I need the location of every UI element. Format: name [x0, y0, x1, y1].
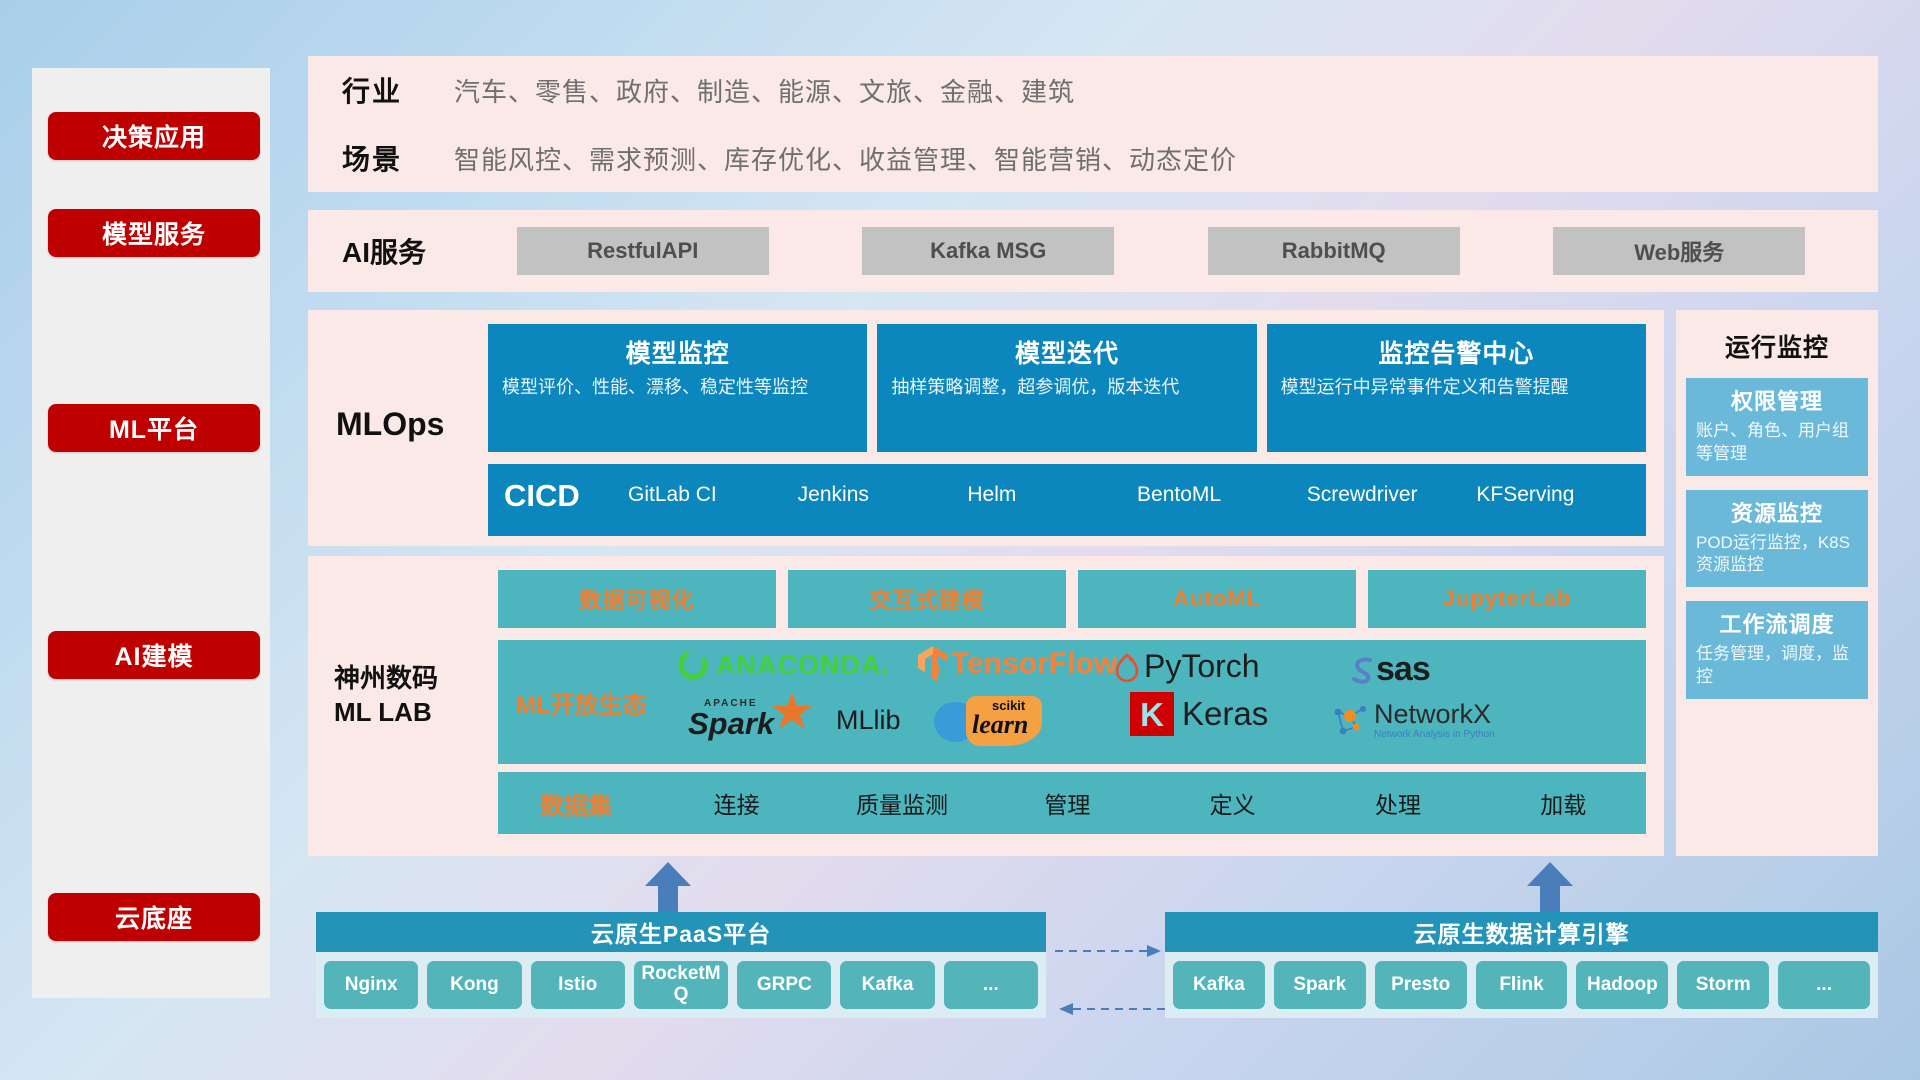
scenario-row: 场景 智能风控、需求预测、库存优化、收益管理、智能营销、动态定价	[308, 124, 1878, 192]
ai-service-chip-restfulapi[interactable]: RestfulAPI	[517, 227, 769, 275]
dataset-bar: 数据集 连接 质量监测 管理 定义 处理 加载	[498, 772, 1646, 834]
cicd-item-bentoml[interactable]: BentoML	[1137, 464, 1307, 508]
mlops-card-title: 模型监控	[502, 334, 853, 370]
industry-row: 行业 汽车、零售、政府、制造、能源、文旅、金融、建筑	[308, 56, 1878, 124]
scikit-learn-logo: scikit learn	[934, 696, 1064, 748]
dataset-label: 数据集	[498, 786, 654, 821]
layer-label-model-service[interactable]: 模型服务	[48, 209, 260, 257]
mlops-card-desc: 模型运行中异常事件定义和告警提醒	[1281, 376, 1632, 400]
tensorflow-logo: TensorFlow	[918, 646, 1117, 682]
cloud-group-data-engine-title: 云原生数据计算引擎	[1165, 912, 1878, 952]
ml-lab-tool-interactive[interactable]: 交互式建模	[788, 570, 1066, 628]
networkx-wordmark: NetworkX	[1374, 701, 1495, 728]
ml-ecosystem-label: ML开放生态	[498, 685, 658, 720]
monitoring-card-workflow[interactable]: 工作流调度 任务管理，调度，监控	[1686, 601, 1868, 699]
dataset-item-connect[interactable]: 连接	[654, 786, 819, 820]
business-panel: 行业 汽车、零售、政府、制造、能源、文旅、金融、建筑 场景 智能风控、需求预测、…	[308, 56, 1878, 192]
cloud-chip-grpc[interactable]: GRPC	[737, 961, 831, 1009]
networkx-logo: NetworkX Network Analysis in Python	[1330, 700, 1495, 740]
pytorch-wordmark: PyTorch	[1144, 648, 1260, 685]
ai-service-chip-kafka-msg[interactable]: Kafka MSG	[862, 227, 1114, 275]
monitoring-card-title: 权限管理	[1696, 384, 1858, 416]
layer-label-decision[interactable]: 决策应用	[48, 112, 260, 160]
cloud-group-data-engine-chips: Kafka Spark Presto Flink Hadoop Storm ..…	[1165, 952, 1878, 1018]
cloud-group-paas: 云原生PaaS平台 Nginx Kong Istio RocketMQ GRPC…	[316, 912, 1046, 1018]
sas-mark-icon	[1348, 655, 1378, 685]
layer-label-ai-modeling[interactable]: AI建模	[48, 631, 260, 679]
connector-right-arrow	[1055, 944, 1165, 958]
monitoring-card-title: 资源监控	[1696, 496, 1858, 528]
industry-key: 行业	[342, 70, 454, 110]
cloud-chip-nginx[interactable]: Nginx	[324, 961, 418, 1009]
cicd-item-jenkins[interactable]: Jenkins	[798, 464, 968, 508]
ml-lab-label: 神州数码 ML LAB	[334, 662, 486, 730]
layer-label-cloud-base[interactable]: 云底座	[48, 893, 260, 941]
anaconda-wordmark: ANACONDA.	[716, 650, 890, 681]
cloud-chip-more2[interactable]: ...	[1778, 961, 1870, 1009]
cloud-chip-kong[interactable]: Kong	[427, 961, 521, 1009]
layer-rail: 决策应用 模型服务 ML平台 AI建模 云底座	[32, 68, 270, 998]
cicd-bar: CICD GitLab CI Jenkins Helm BentoML Scre…	[488, 464, 1646, 536]
monitoring-card-title: 工作流调度	[1696, 607, 1858, 639]
ml-lab-tool-automl[interactable]: AutoML	[1078, 570, 1356, 628]
scenario-key: 场景	[342, 138, 454, 178]
pytorch-logo: PyTorch	[1114, 648, 1260, 685]
monitoring-card-desc: 账户、角色、用户组等管理	[1696, 420, 1858, 466]
monitoring-card-desc: 任务管理，调度，监控	[1696, 643, 1858, 689]
connector-left-arrow	[1055, 1002, 1165, 1016]
cicd-item-gitlab-ci[interactable]: GitLab CI	[628, 464, 798, 508]
dataset-item-define[interactable]: 定义	[1150, 786, 1315, 820]
dataset-item-process[interactable]: 处理	[1315, 786, 1480, 820]
cicd-item-screwdriver[interactable]: Screwdriver	[1307, 464, 1477, 508]
tensorflow-wordmark: TensorFlow	[951, 647, 1117, 681]
cicd-item-kfserving[interactable]: KFServing	[1476, 464, 1646, 508]
cloud-group-data-engine: 云原生数据计算引擎 Kafka Spark Presto Flink Hadoo…	[1165, 912, 1878, 1018]
ai-service-label: AI服务	[342, 231, 470, 271]
keras-wordmark: Keras	[1182, 695, 1268, 733]
mlops-card-list: 模型监控 模型评价、性能、漂移、稳定性等监控 模型迭代 抽样策略调整，超参调优，…	[488, 324, 1646, 452]
cloud-chip-flink[interactable]: Flink	[1476, 961, 1568, 1009]
sas-logo: sas	[1348, 650, 1430, 689]
cloud-chip-presto[interactable]: Presto	[1375, 961, 1467, 1009]
cloud-chip-hadoop[interactable]: Hadoop	[1576, 961, 1668, 1009]
sas-wordmark: sas	[1376, 650, 1430, 689]
spark-star-icon	[770, 690, 814, 730]
monitoring-title: 运行监控	[1676, 310, 1878, 364]
mlops-panel: MLOps 模型监控 模型评价、性能、漂移、稳定性等监控 模型迭代 抽样策略调整…	[308, 310, 1664, 546]
mlops-card-model-monitor[interactable]: 模型监控 模型评价、性能、漂移、稳定性等监控	[488, 324, 867, 452]
ai-service-chip-web[interactable]: Web服务	[1553, 227, 1805, 275]
cicd-label: CICD	[488, 464, 628, 514]
architecture-diagram: 决策应用 模型服务 ML平台 AI建模 云底座 行业 汽车、零售、政府、制造、能…	[0, 0, 1920, 1080]
networkx-graph-icon	[1330, 700, 1372, 740]
ml-ecosystem-band: ML开放生态 ANACONDA.	[498, 640, 1646, 764]
cloud-chip-rocketmq[interactable]: RocketMQ	[634, 961, 728, 1009]
cloud-group-paas-title: 云原生PaaS平台	[316, 912, 1046, 952]
mlops-card-desc: 抽样策略调整，超参调优，版本迭代	[891, 376, 1242, 400]
ml-lab-tool-list: 数据可视化 交互式建模 AutoML JupyterLab	[498, 570, 1646, 628]
pytorch-flame-icon	[1114, 652, 1140, 682]
monitoring-panel: 运行监控 权限管理 账户、角色、用户组等管理 资源监控 POD运行监控，K8S资…	[1676, 310, 1878, 856]
anaconda-logo: ANACONDA.	[676, 648, 890, 682]
scikit-text-bottom: learn	[972, 710, 1028, 740]
ml-lab-tool-data-viz[interactable]: 数据可视化	[498, 570, 776, 628]
mllib-wordmark: MLlib	[836, 705, 901, 736]
spark-mllib-logo: APACHE Spark MLlib	[682, 696, 901, 744]
mlops-card-desc: 模型评价、性能、漂移、稳定性等监控	[502, 376, 853, 400]
layer-label-ml-platform[interactable]: ML平台	[48, 404, 260, 452]
monitoring-card-resource[interactable]: 资源监控 POD运行监控，K8S资源监控	[1686, 490, 1868, 588]
spark-wordmark: Spark	[688, 706, 774, 742]
ml-ecosystem-logo-area: ANACONDA. APACHE Spark MLlib	[658, 640, 1646, 764]
ai-service-chip-rabbitmq[interactable]: RabbitMQ	[1208, 227, 1460, 275]
scenario-value: 智能风控、需求预测、库存优化、收益管理、智能营销、动态定价	[454, 140, 1237, 177]
ml-lab-panel: 神州数码 ML LAB 数据可视化 交互式建模 AutoML JupyterLa…	[308, 556, 1664, 856]
mlops-card-title: 监控告警中心	[1281, 334, 1632, 370]
ml-lab-tool-jupyterlab[interactable]: JupyterLab	[1368, 570, 1646, 628]
cloud-chip-storm[interactable]: Storm	[1677, 961, 1769, 1009]
dataset-item-load[interactable]: 加载	[1481, 786, 1646, 820]
dataset-item-quality[interactable]: 质量监测	[819, 786, 984, 820]
cloud-chip-kafka2[interactable]: Kafka	[1173, 961, 1265, 1009]
keras-mark-icon: K	[1130, 692, 1174, 736]
dataset-item-manage[interactable]: 管理	[985, 786, 1150, 820]
data-engine-up-arrow-icon	[1527, 862, 1573, 914]
cloud-chip-istio[interactable]: Istio	[531, 961, 625, 1009]
paas-up-arrow-icon	[645, 862, 691, 914]
dataset-item-list: 连接 质量监测 管理 定义 处理 加载	[654, 786, 1646, 820]
mlops-label: MLOps	[336, 406, 476, 443]
cloud-group-paas-chips: Nginx Kong Istio RocketMQ GRPC Kafka ...	[316, 952, 1046, 1018]
ml-lab-label-line2: ML LAB	[334, 696, 486, 730]
cloud-chip-spark[interactable]: Spark	[1274, 961, 1366, 1009]
industry-value: 汽车、零售、政府、制造、能源、文旅、金融、建筑	[454, 72, 1075, 109]
cicd-item-helm[interactable]: Helm	[967, 464, 1137, 508]
anaconda-mark-icon	[676, 648, 710, 682]
networkx-tagline: Network Analysis in Python	[1374, 730, 1495, 740]
cloud-chip-more[interactable]: ...	[944, 961, 1038, 1009]
mlops-card-alert-center[interactable]: 监控告警中心 模型运行中异常事件定义和告警提醒	[1267, 324, 1646, 452]
mlops-card-title: 模型迭代	[891, 334, 1242, 370]
monitoring-card-permission[interactable]: 权限管理 账户、角色、用户组等管理	[1686, 378, 1868, 476]
keras-mark-letter: K	[1140, 698, 1164, 731]
cloud-chip-kafka[interactable]: Kafka	[840, 961, 934, 1009]
cicd-item-list: GitLab CI Jenkins Helm BentoML Screwdriv…	[628, 464, 1646, 508]
ai-service-chip-list: RestfulAPI Kafka MSG RabbitMQ Web服务	[470, 227, 1878, 275]
ai-service-panel: AI服务 RestfulAPI Kafka MSG RabbitMQ Web服务	[308, 210, 1878, 292]
keras-logo: K Keras	[1130, 692, 1268, 736]
tensorflow-mark-icon	[918, 646, 948, 682]
mlops-card-model-iteration[interactable]: 模型迭代 抽样策略调整，超参调优，版本迭代	[877, 324, 1256, 452]
ml-lab-label-line1: 神州数码	[334, 662, 486, 696]
monitoring-card-desc: POD运行监控，K8S资源监控	[1696, 532, 1858, 578]
